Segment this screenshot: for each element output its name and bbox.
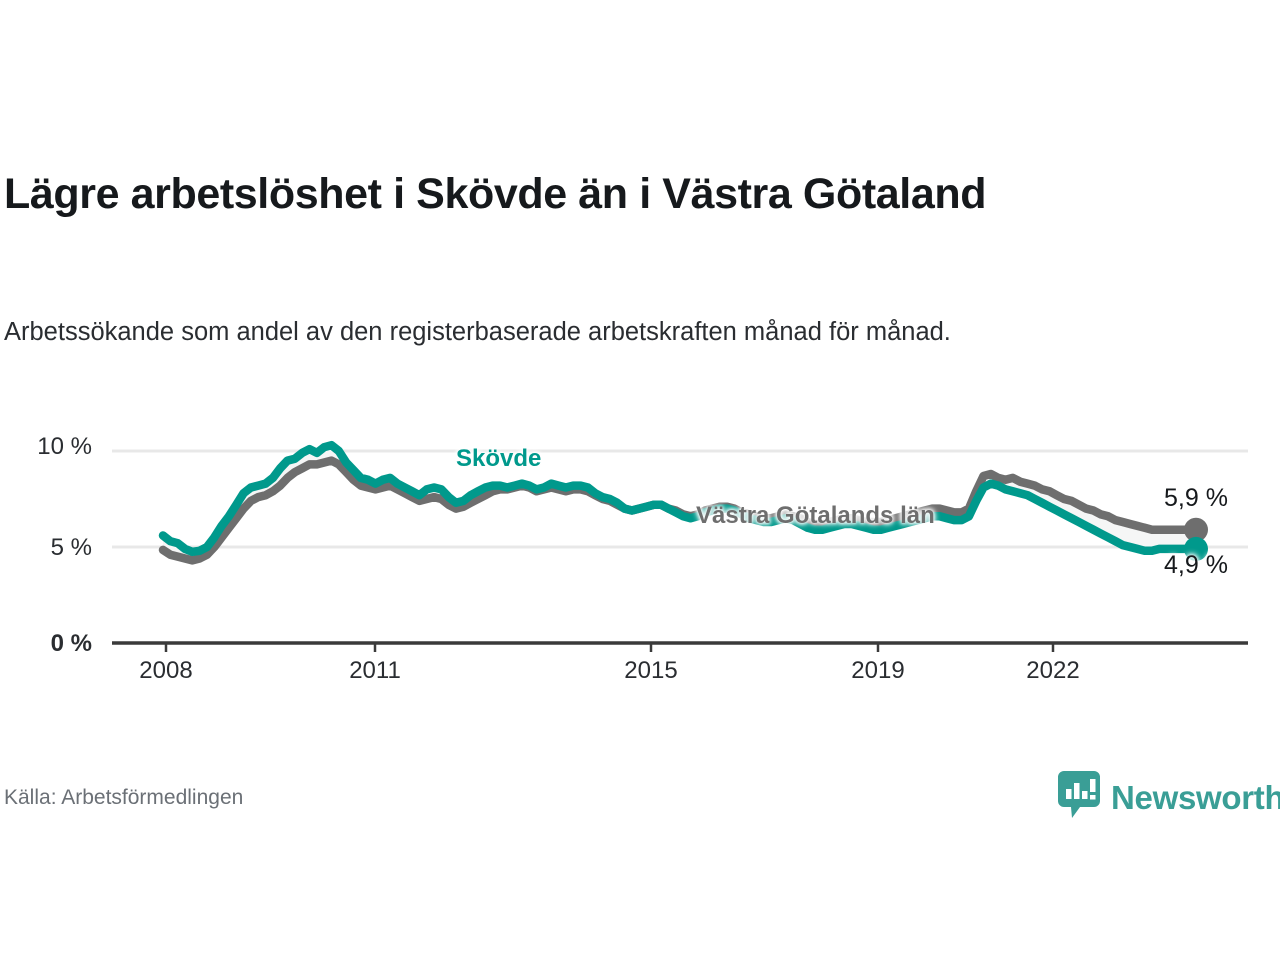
newsworthy-logo-text: Newsworthy — [1111, 779, 1280, 817]
chart-svg — [0, 400, 1280, 700]
series-label-vastra-gotalands-lan: Västra Götalands län — [696, 502, 935, 530]
newsworthy-bubble-chart-icon — [1058, 771, 1100, 824]
page-subtitle: Arbetssökande som andel av den registerb… — [4, 316, 1194, 350]
end-value-label-skovde: 4,9 % — [1164, 551, 1228, 580]
source-note: Källa: Arbetsförmedlingen — [4, 786, 243, 810]
x-axis-line — [112, 643, 1248, 652]
newsworthy-logo: Newsworthy — [1058, 771, 1280, 824]
infographic-root: Lägre arbetslöshet i Skövde än i Västra … — [0, 0, 1280, 960]
end-value-label-vastra-gotalands-lan: 5,9 % — [1164, 484, 1228, 513]
line-chart — [0, 400, 1280, 700]
page-title: Lägre arbetslöshet i Skövde än i Västra … — [4, 167, 1109, 221]
series-label-skovde: Skövde — [456, 445, 541, 473]
